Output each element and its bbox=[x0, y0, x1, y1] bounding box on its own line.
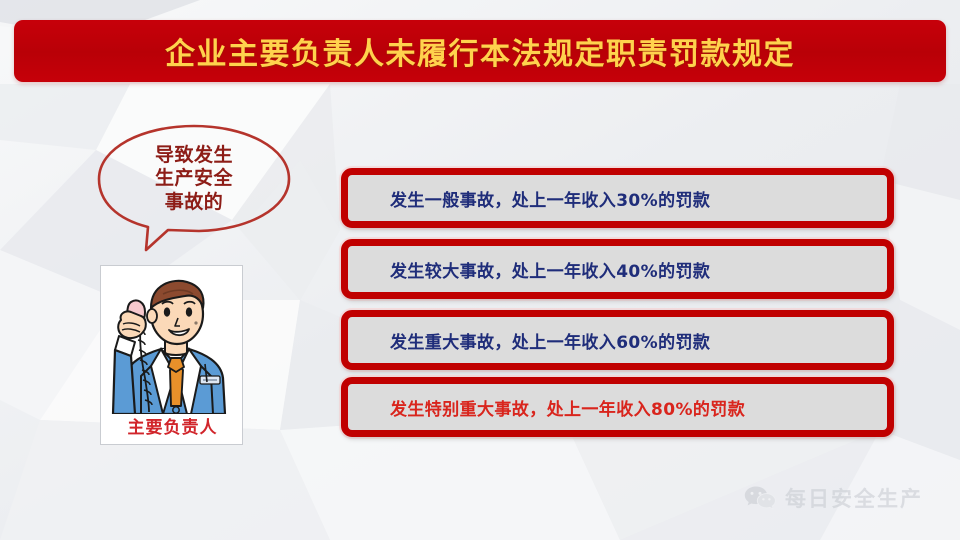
callout-text: 导致发生 生产安全 事故的 bbox=[96, 124, 292, 234]
responsible-person-card: 主要负责人 bbox=[100, 265, 243, 445]
businessman-illustration bbox=[101, 266, 243, 414]
penalty-box-general[interactable]: 发生一般事故，处上一年收入30%的罚款 bbox=[341, 168, 894, 228]
watermark: 每日安全生产 bbox=[744, 483, 923, 513]
callout-line-1: 导致发生 bbox=[155, 144, 233, 167]
penalty-box-large[interactable]: 发生较大事故，处上一年收入40%的罚款 bbox=[341, 239, 894, 299]
penalty-text-extra-major: 发生特别重大事故，处上一年收入80%的罚款 bbox=[348, 395, 745, 420]
penalty-box-extra-major[interactable]: 发生特别重大事故，处上一年收入80%的罚款 bbox=[341, 377, 894, 437]
slide-canvas: 企业主要负责人未履行本法规定职责罚款规定 导致发生 生产安全 事故的 bbox=[0, 0, 960, 540]
wechat-icon bbox=[744, 485, 776, 511]
penalty-text-major: 发生重大事故，处上一年收入60%的罚款 bbox=[348, 328, 710, 353]
penalty-box-major[interactable]: 发生重大事故，处上一年收入60%的罚款 bbox=[341, 310, 894, 370]
slide-title-banner: 企业主要负责人未履行本法规定职责罚款规定 bbox=[14, 20, 946, 82]
condition-callout: 导致发生 生产安全 事故的 bbox=[96, 124, 292, 246]
watermark-text: 每日安全生产 bbox=[785, 483, 923, 513]
callout-line-3: 事故的 bbox=[165, 191, 224, 214]
penalty-text-large: 发生较大事故，处上一年收入40%的罚款 bbox=[348, 257, 710, 282]
penalty-text-general: 发生一般事故，处上一年收入30%的罚款 bbox=[348, 186, 710, 211]
person-role-label: 主要负责人 bbox=[101, 413, 243, 438]
page-title: 企业主要负责人未履行本法规定职责罚款规定 bbox=[165, 29, 795, 73]
callout-line-2: 生产安全 bbox=[155, 167, 233, 190]
